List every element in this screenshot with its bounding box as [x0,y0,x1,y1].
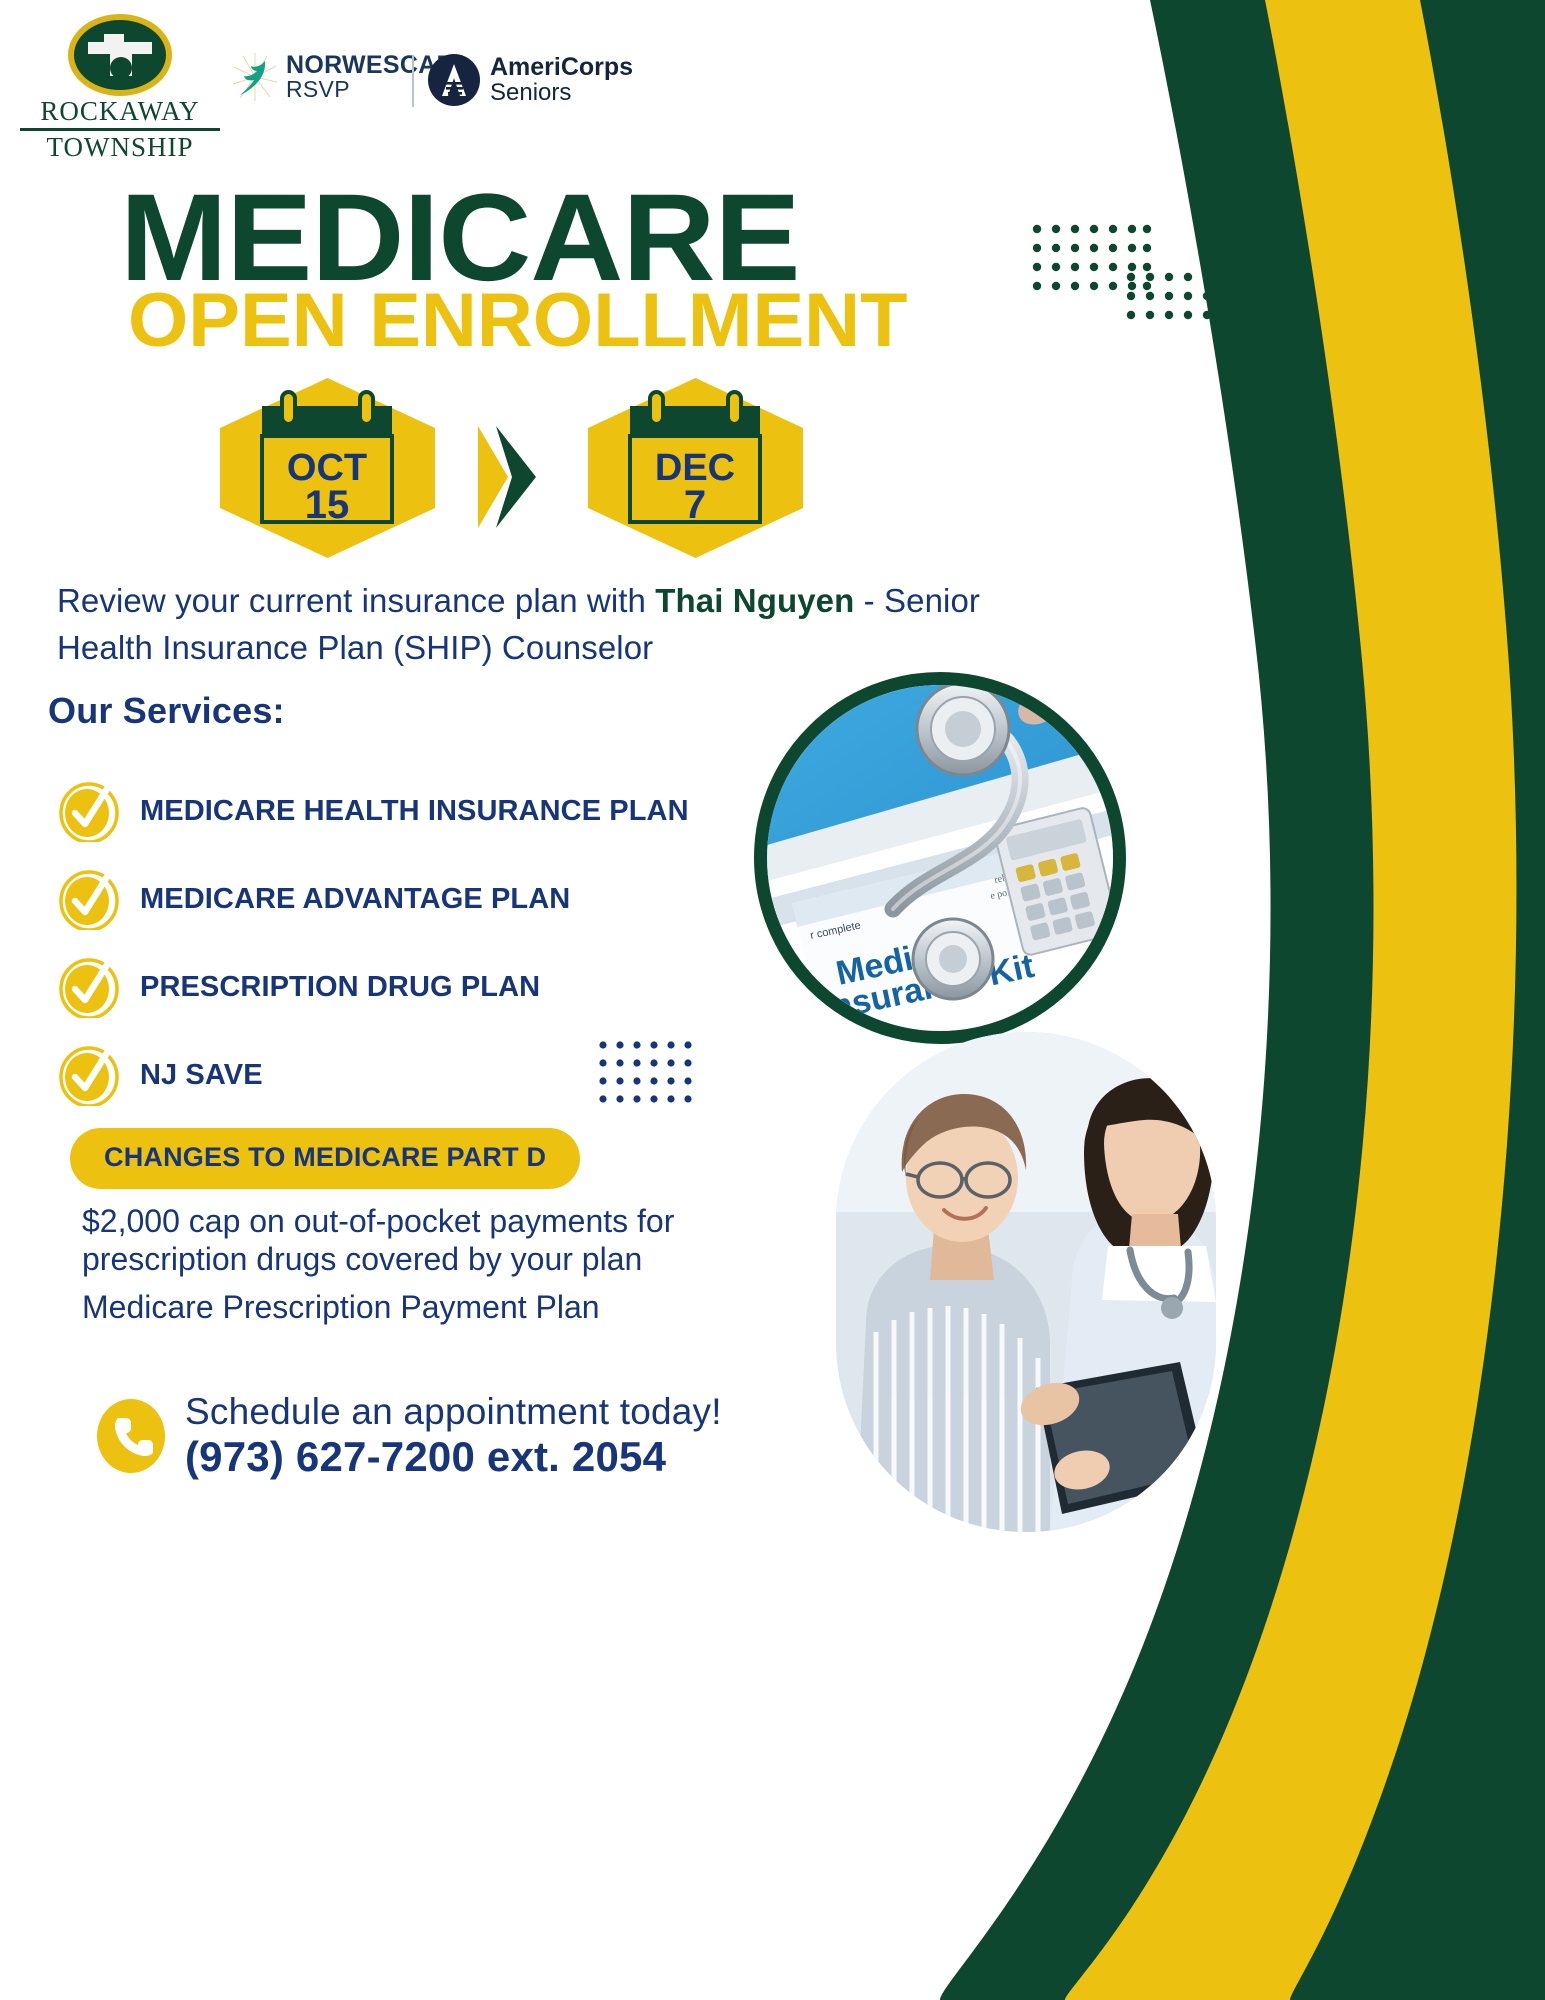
check-circle-icon [58,1044,120,1106]
end-day-label: 7 [684,483,706,527]
check-circle-icon [58,868,120,930]
service-label: NJ SAVE [140,1059,263,1092]
dot-grid-decoration-top2 [1126,272,1251,322]
logo-divider [412,55,414,107]
counselor-and-senior-photo [836,1032,1216,1532]
rockaway-line1: ROCKAWAY [20,98,220,131]
services-list: MEDICARE HEALTH INSURANCE PLAN MEDICARE … [58,768,778,1120]
header-logos: ROCKAWAY TOWNSHIP NORWESCAP RSVP [0,0,1545,175]
cta-text: Schedule an appointment today! [185,1392,722,1431]
list-item: MEDICARE ADVANTAGE PLAN [58,856,778,942]
americorps-seniors-logo: AmeriCorps Seniors [428,54,633,106]
list-item: NJ SAVE [58,1032,778,1118]
start-date-badge: OCT 15 [220,378,435,563]
part-d-body-text: $2,000 cap on out-of-pocket payments for… [82,1203,772,1279]
list-item: MEDICARE HEALTH INSURANCE PLAN [58,768,778,854]
medicare-insurance-kit-photo: r complete Medicare Insurance Kit rehens… [754,672,1126,1044]
enrollment-date-range: OCT 15 DEC 7 [0,378,1000,558]
rockaway-township-logo: ROCKAWAY TOWNSHIP [20,12,220,161]
counselor-intro-text: Review your current insurance plan with … [57,578,987,672]
norwescap-rsvp-logo: NORWESCAP RSVP [232,52,454,102]
service-label: MEDICARE ADVANTAGE PLAN [140,883,570,916]
contact-block[interactable]: Schedule an appointment today! (973) 627… [95,1392,722,1480]
counselor-name: Thai Nguyen [655,582,854,619]
services-heading: Our Services: [48,690,285,732]
review-pre: Review your current insurance plan with [57,582,655,619]
phone-icon [95,1397,167,1475]
americorps-line2: Seniors [490,81,633,105]
service-label: MEDICARE HEALTH INSURANCE PLAN [140,795,689,828]
service-label: PRESCRIPTION DRUG PLAN [140,971,540,1004]
norwescap-bird-icon [232,52,278,102]
check-circle-icon [58,780,120,842]
phone-number[interactable]: (973) 627-7200 ext. 2054 [185,1431,722,1480]
page-subtitle: OPEN ENROLLMENT [128,283,908,359]
end-date-badge: DEC 7 [588,378,803,563]
status-badge: CHANGES TO MEDICARE PART D [70,1128,580,1189]
americorps-line1: AmeriCorps [490,55,633,81]
start-day-label: 15 [305,483,350,527]
part-d-body-text-2: Medicare Prescription Payment Plan [82,1288,772,1326]
rockaway-seal-icon [66,12,174,98]
americorps-badge-icon [428,54,480,106]
chevron-right-icon [478,426,540,533]
list-item: PRESCRIPTION DRUG PLAN [58,944,778,1030]
rockaway-line2: TOWNSHIP [20,131,220,162]
check-circle-icon [58,956,120,1018]
